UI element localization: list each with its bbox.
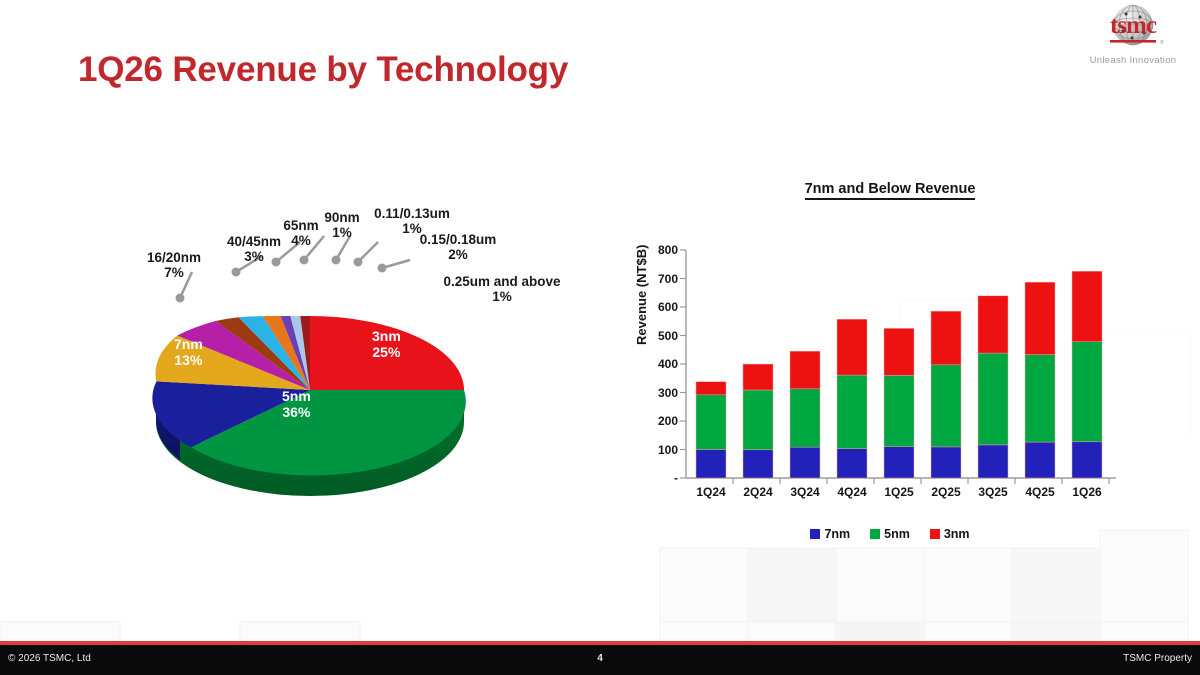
- bar-3Q24-5nm: [790, 389, 820, 447]
- svg-text:tsmc: tsmc: [1110, 12, 1157, 39]
- bar-1Q24-5nm: [696, 395, 726, 450]
- bar-4Q24-5nm: [837, 375, 867, 449]
- bar-chart-legend: 7nm 5nm 3nm: [640, 527, 1140, 541]
- footer-page-number: 4: [0, 653, 1200, 664]
- bar-4Q25-7nm: [1025, 442, 1055, 478]
- legend-item-7nm: 7nm: [810, 527, 850, 541]
- bar-2Q24-5nm: [743, 390, 773, 450]
- revenue-by-technology-pie-chart: 3nm 25% 5nm 36% 7nm 13% 28nm 7% 16/20nm …: [110, 200, 590, 500]
- legend-swatch-5nm: [870, 529, 880, 539]
- bar-chart-plot: [640, 175, 1140, 520]
- pie-callout-025um-and-above: 0.25um and above 1%: [420, 274, 584, 304]
- seven-nm-and-below-revenue-chart: 7nm and Below Revenue Revenue (NT$B) 800…: [640, 175, 1140, 555]
- bar-3Q24-7nm: [790, 447, 820, 478]
- pie-label-5nm: 5nm 36%: [282, 388, 311, 420]
- bar-2Q24-3nm: [743, 364, 773, 390]
- bar-3Q24-3nm: [790, 351, 820, 389]
- footer-property-notice: TSMC Property: [1123, 653, 1192, 664]
- bar-2Q25-3nm: [931, 311, 961, 365]
- slide-footer: © 2026 TSMC, Ltd 4 TSMC Property: [0, 645, 1200, 675]
- pie-callout-16-20nm: 16/20nm 7%: [128, 250, 220, 280]
- pie-label-3nm: 3nm 25%: [372, 328, 401, 360]
- bar-4Q25-5nm: [1025, 355, 1055, 443]
- bar-1Q26-7nm: [1072, 442, 1102, 478]
- pie-label-7nm: 7nm 13%: [174, 336, 203, 368]
- legend-item-5nm: 5nm: [870, 527, 910, 541]
- legend-swatch-7nm: [810, 529, 820, 539]
- bar-4Q25-3nm: [1025, 282, 1055, 354]
- bar-2Q24-7nm: [743, 450, 773, 478]
- bar-4Q24-7nm: [837, 449, 867, 478]
- bar-1Q25-7nm: [884, 447, 914, 478]
- bar-2Q25-5nm: [931, 365, 961, 447]
- bar-1Q25-3nm: [884, 328, 914, 375]
- bar-1Q26-3nm: [1072, 271, 1102, 341]
- registered-mark: ®: [1160, 39, 1164, 46]
- bar-1Q25-5nm: [884, 375, 914, 446]
- tsmc-logo: tsmc ® Unleash Innovation: [1074, 4, 1192, 76]
- bar-3Q25-3nm: [978, 296, 1008, 353]
- logo-tagline: Unleash Innovation: [1074, 55, 1192, 66]
- bar-series-group: [696, 271, 1102, 478]
- pie-label-28nm: 28nm 7%: [236, 282, 273, 314]
- x-tick-1Q26: 1Q26: [1057, 485, 1117, 499]
- legend-label-3nm: 3nm: [944, 527, 970, 541]
- tsmc-logo-mark: tsmc ®: [1074, 4, 1192, 54]
- bar-3Q25-7nm: [978, 445, 1008, 478]
- bar-1Q24-3nm: [696, 382, 726, 395]
- legend-swatch-3nm: [930, 529, 940, 539]
- bar-4Q24-3nm: [837, 319, 867, 375]
- legend-label-7nm: 7nm: [824, 527, 850, 541]
- page-title: 1Q26 Revenue by Technology: [78, 50, 568, 90]
- legend-label-5nm: 5nm: [884, 527, 910, 541]
- pie-callout-015-018um: 0.15/0.18um 2%: [398, 232, 518, 262]
- bar-1Q24-7nm: [696, 450, 726, 479]
- legend-item-3nm: 3nm: [930, 527, 970, 541]
- bar-3Q25-5nm: [978, 353, 1008, 445]
- bar-2Q25-7nm: [931, 447, 961, 478]
- bar-1Q26-5nm: [1072, 342, 1102, 442]
